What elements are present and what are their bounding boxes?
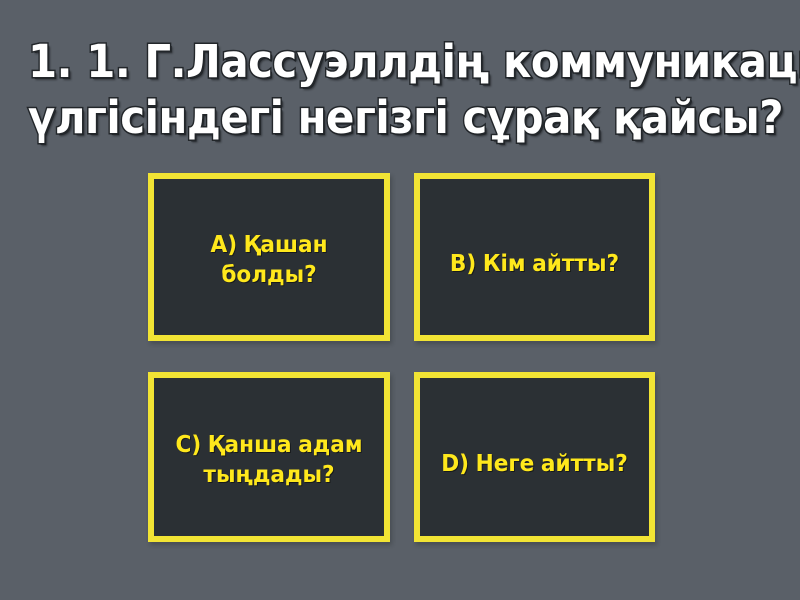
answer-option-a-label: A) Қашан болды?: [161, 230, 377, 290]
answer-option-d-label: D) Неге айтты?: [427, 449, 642, 479]
answer-option-b-label: B) Кім айтты?: [427, 249, 642, 279]
quiz-slide: 1. 1. Г.Лассуэллдің коммуникация үлгісін…: [0, 0, 800, 600]
question-title-line-1: 1. 1. Г.Лассуэллдің коммуникация: [28, 34, 772, 90]
question-title-line-2: үлгісіндегі негізгі сұрақ қайсы?: [28, 90, 772, 146]
question-title: 1. 1. Г.Лассуэллдің коммуникация үлгісін…: [0, 34, 800, 146]
answer-option-b[interactable]: B) Кім айтты?: [414, 173, 655, 341]
answer-option-c-label: C) Қанша адам тыңдады?: [161, 430, 377, 490]
answer-options-grid: A) Қашан болды? B) Кім айтты? C) Қанша а…: [148, 173, 655, 542]
answer-option-a[interactable]: A) Қашан болды?: [148, 173, 390, 341]
answer-option-c[interactable]: C) Қанша адам тыңдады?: [148, 372, 390, 542]
answer-option-d[interactable]: D) Неге айтты?: [414, 372, 655, 542]
